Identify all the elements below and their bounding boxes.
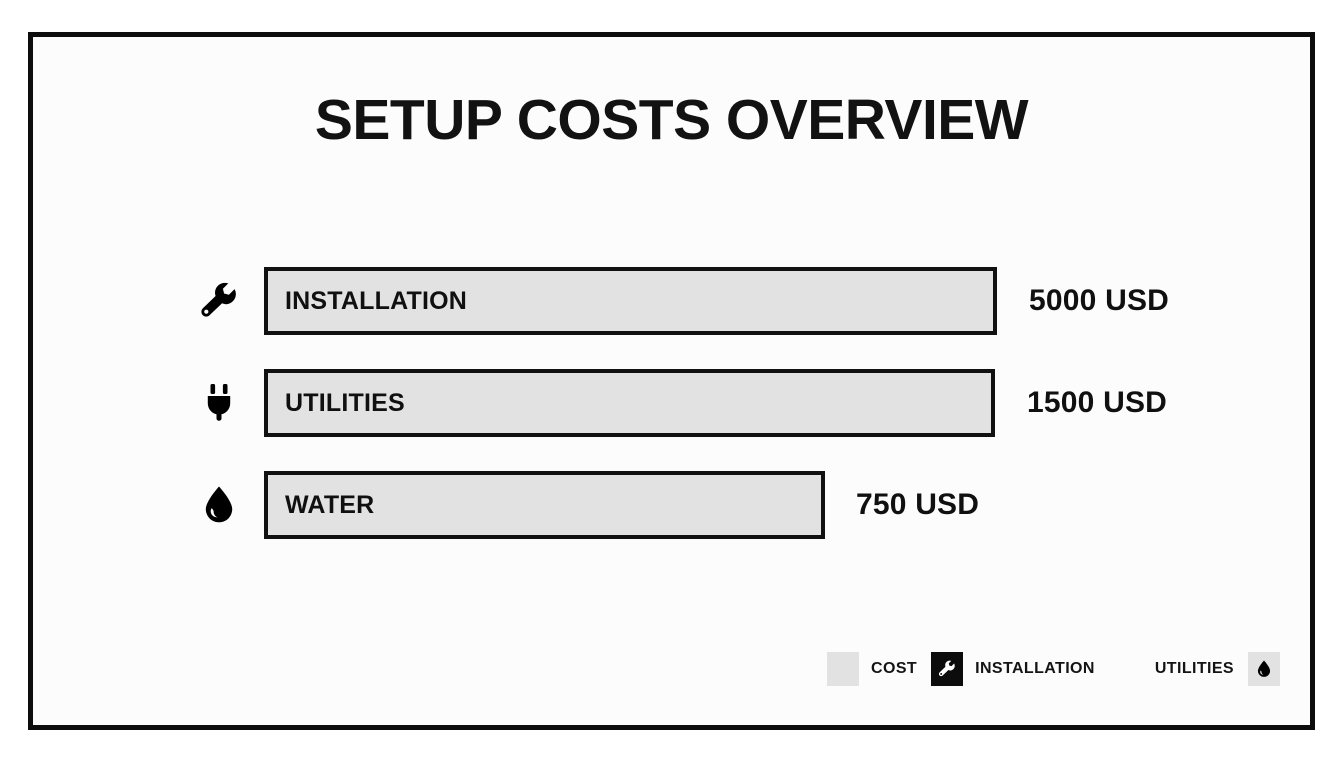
chart-row-water: WATER 750 USD [33, 471, 1310, 539]
legend-swatch-cost [827, 652, 859, 686]
bar-label-utilities: UTILITIES [268, 389, 405, 418]
legend-item-utilities: UTILITIES [1155, 651, 1280, 687]
bar-value-utilities: 1500 USD [1027, 369, 1167, 437]
chart-legend: COST INSTALLATION UTILITIES [33, 651, 1310, 687]
bar-value-water: 750 USD [856, 471, 979, 539]
legend-label-cost: COST [871, 660, 917, 678]
water-drop-icon [188, 471, 250, 539]
plug-icon [188, 369, 250, 437]
wrench-icon [188, 267, 250, 335]
chart-row-utilities: UTILITIES 1500 USD [33, 369, 1310, 437]
bar-value-installation: 5000 USD [1029, 267, 1169, 335]
legend-label-installation: INSTALLATION [975, 660, 1095, 678]
legend-label-utilities: UTILITIES [1155, 660, 1234, 678]
legend-item-installation: INSTALLATION [931, 651, 1095, 687]
legend-wrench-icon [931, 652, 963, 686]
bar-chart: INSTALLATION 5000 USD UTILITIES 1500 USD [33, 267, 1310, 573]
bar-label-installation: INSTALLATION [268, 287, 467, 316]
legend-item-cost: COST [827, 651, 917, 687]
bar-label-water: WATER [268, 491, 374, 520]
legend-water-drop-icon [1248, 652, 1280, 686]
bar-water: WATER [264, 471, 825, 539]
bar-utilities: UTILITIES [264, 369, 995, 437]
bar-installation: INSTALLATION [264, 267, 997, 335]
page-title: SETUP COSTS OVERVIEW [33, 92, 1310, 149]
chart-row-installation: INSTALLATION 5000 USD [33, 267, 1310, 335]
poster-frame: SETUP COSTS OVERVIEW INSTALLATION 5000 U… [28, 32, 1315, 730]
